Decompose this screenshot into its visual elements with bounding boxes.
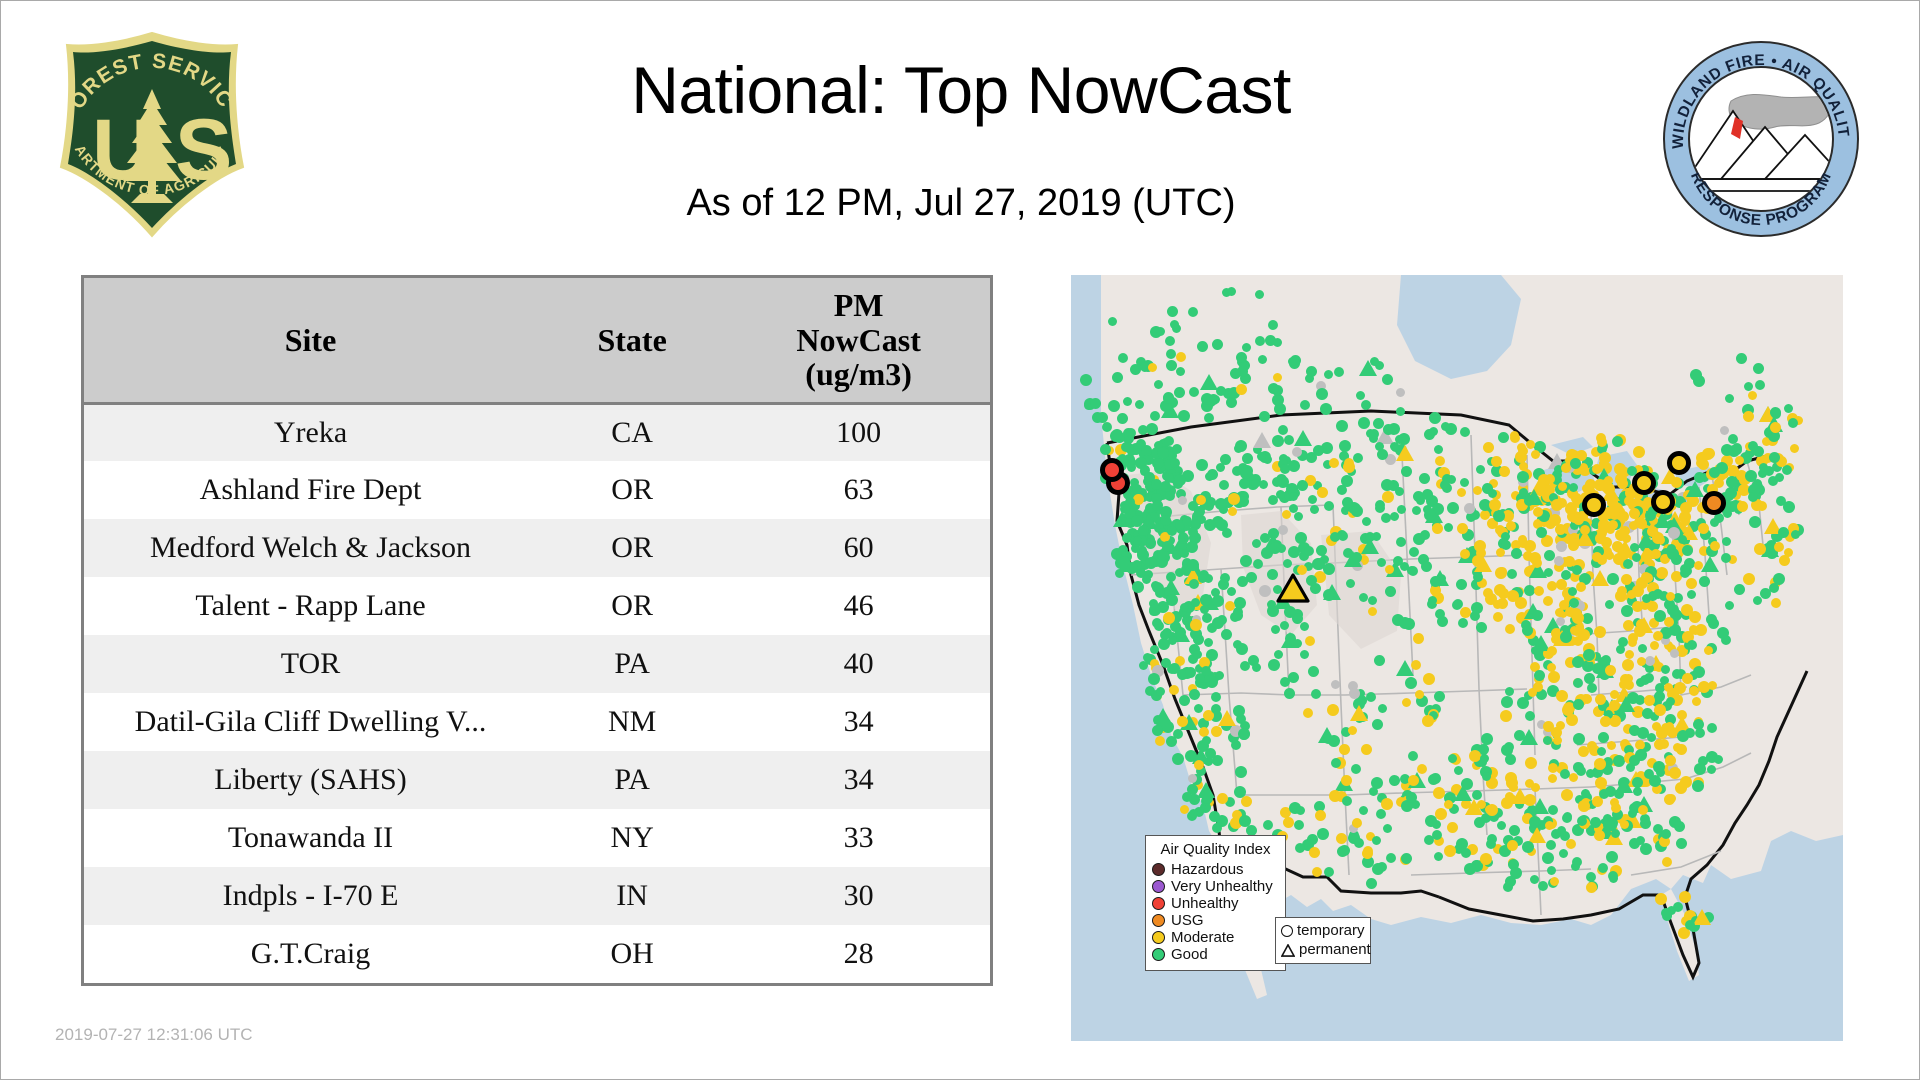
temporary-monitor-marker [1227, 287, 1236, 296]
slide-canvas: FOREST SERVICE DEPARTMENT OF AGRICULTURE… [0, 0, 1920, 1080]
temporary-monitor-marker [1491, 456, 1502, 467]
highlighted-site-marker[interactable] [1632, 471, 1656, 495]
temporary-monitor-marker [1341, 475, 1353, 487]
permanent-monitor-marker [1350, 705, 1368, 721]
temporary-monitor-marker [1189, 689, 1200, 700]
temporary-monitor-marker [1594, 758, 1606, 770]
temporary-monitor-marker [1471, 602, 1483, 614]
temporary-monitor-marker [1637, 657, 1646, 666]
temporary-monitor-marker [1543, 596, 1553, 606]
air-quality-map[interactable]: Air Quality Index HazardousVery Unhealth… [1071, 275, 1843, 1041]
temporary-monitor-marker [1331, 758, 1341, 768]
temporary-monitor-marker [1411, 660, 1421, 670]
table-row: G.T.CraigOH28 [84, 925, 990, 983]
table-row: Medford Welch & JacksonOR60 [84, 519, 990, 577]
temporary-monitor-marker [1295, 843, 1305, 853]
aqi-swatch-icon [1152, 880, 1165, 893]
temporary-monitor-marker [1623, 559, 1633, 569]
cell-value: 28 [727, 925, 990, 983]
temporary-monitor-marker [1569, 483, 1578, 492]
temporary-monitor-marker [1162, 541, 1173, 552]
temporary-monitor-marker [1198, 574, 1207, 583]
temporary-monitor-marker [1598, 732, 1609, 743]
temporary-monitor-marker [1143, 653, 1152, 662]
temporary-monitor-marker [1170, 320, 1179, 329]
temporary-monitor-marker [1638, 644, 1647, 653]
temporary-monitor-marker [1259, 585, 1271, 597]
temporary-monitor-marker [1236, 352, 1247, 363]
temporary-monitor-marker [1377, 449, 1388, 460]
aqi-legend-title: Air Quality Index [1152, 841, 1279, 858]
permanent-monitor-marker [1701, 556, 1719, 572]
aqi-legend-item: Hazardous [1152, 861, 1279, 878]
permanent-monitor-marker [1294, 430, 1312, 446]
temporary-monitor-marker [1204, 413, 1214, 423]
temporary-monitor-marker [1166, 349, 1176, 359]
temporary-monitor-marker [1578, 629, 1590, 641]
temporary-monitor-marker [1497, 821, 1506, 830]
temporary-monitor-marker [1156, 327, 1165, 336]
aqi-swatch-icon [1152, 948, 1165, 961]
permanent-monitor-marker [1615, 777, 1633, 793]
temporary-monitor-marker [1381, 798, 1393, 810]
temporary-monitor-marker [1447, 822, 1458, 833]
temporary-monitor-marker [1472, 555, 1484, 567]
cell-site: Ashland Fire Dept [84, 461, 537, 519]
temporary-monitor-marker [1561, 789, 1573, 801]
pm-line-1: PM [834, 287, 884, 323]
temporary-monitor-marker [1614, 543, 1624, 553]
cell-state: OH [537, 925, 727, 983]
temporary-monitor-marker [1297, 480, 1308, 491]
permanent-monitor-marker [1524, 603, 1542, 619]
temporary-monitor-marker [1202, 736, 1211, 745]
temporary-monitor-marker [1748, 492, 1758, 502]
permanent-monitor-marker [1281, 632, 1299, 648]
temporary-monitor-marker [1548, 774, 1557, 783]
permanent-monitor-marker [1520, 729, 1538, 745]
temporary-monitor-marker [1289, 492, 1298, 501]
temporary-monitor-marker [1193, 635, 1202, 644]
temporary-monitor-marker [1216, 463, 1225, 472]
temporary-monitor-marker [1237, 576, 1248, 587]
temporary-monitor-marker [1547, 646, 1557, 656]
temporary-monitor-marker [1714, 755, 1723, 764]
temporary-monitor-marker [1376, 809, 1386, 819]
temporary-monitor-marker [1255, 336, 1265, 346]
temporary-monitor-marker [1234, 444, 1243, 453]
temporary-monitor-marker [1167, 306, 1178, 317]
cell-state: OR [537, 577, 727, 635]
temporary-monitor-marker [1255, 290, 1264, 299]
page-subtitle: As of 12 PM, Jul 27, 2019 (UTC) [301, 184, 1621, 222]
cell-site: Datil-Gila Cliff Dwelling V... [84, 693, 537, 751]
aqi-legend-item: Good [1152, 946, 1279, 963]
wfaqrp-logo: WILDLAND FIRE • AIR QUALITY RESPONSE PRO… [1661, 39, 1861, 239]
aqi-legend-item: Unhealthy [1152, 895, 1279, 912]
temporary-monitor-marker [1124, 443, 1134, 453]
temporary-monitor-marker [1548, 763, 1558, 773]
table-row: Ashland Fire DeptOR63 [84, 461, 990, 519]
temporary-monitor-marker [1578, 800, 1590, 812]
temporary-monitor-marker [1710, 541, 1720, 551]
cell-site: Yreka [84, 403, 537, 461]
cell-site: G.T.Craig [84, 925, 537, 983]
permanent-monitor-marker [1218, 710, 1236, 726]
temporary-monitor-marker [1435, 456, 1445, 466]
cell-state: IN [537, 867, 727, 925]
highlighted-site-marker[interactable] [1702, 491, 1726, 515]
temporary-monitor-marker [1316, 388, 1328, 400]
temporary-monitor-marker [1382, 374, 1393, 385]
temporary-monitor-marker [1653, 589, 1663, 599]
temporary-monitor-marker [1607, 741, 1616, 750]
temporary-monitor-marker [1339, 845, 1350, 856]
table-header-row: Site State PM NowCast (ug/m3) [84, 278, 990, 403]
temporary-monitor-marker [1692, 780, 1704, 792]
cell-state: CA [537, 403, 727, 461]
top-nowcast-table-container: Site State PM NowCast (ug/m3) YrekaCA100… [81, 275, 993, 986]
aqi-legend-label: Good [1171, 947, 1208, 962]
temporary-monitor-marker [1142, 575, 1151, 584]
temporary-monitor-marker [1656, 768, 1665, 777]
temporary-monitor-marker [1507, 840, 1518, 851]
temporary-monitor-marker [1480, 853, 1492, 865]
temporary-monitor-marker [1401, 853, 1412, 864]
permanent-monitor-marker [1200, 374, 1218, 390]
temporary-monitor-marker [1677, 710, 1687, 720]
cell-site: Talent - Rapp Lane [84, 577, 537, 635]
temporary-monitor-marker [1280, 677, 1290, 687]
permanent-monitor-marker [1591, 570, 1609, 586]
permanent-monitor-marker [1161, 402, 1179, 418]
temporary-monitor-marker [1393, 556, 1403, 566]
temporary-monitor-marker [1180, 603, 1189, 612]
temporary-monitor-marker [1415, 690, 1424, 699]
temporary-monitor-marker [1654, 704, 1666, 716]
temporary-monitor-marker [1268, 383, 1279, 394]
temporary-monitor-marker [1271, 625, 1280, 634]
highlighted-site-marker[interactable] [1100, 458, 1124, 482]
temporary-monitor-marker [1576, 766, 1586, 776]
pm-line-3: (ug/m3) [805, 356, 912, 392]
temporary-monitor-marker [1102, 422, 1112, 432]
footer-timestamp: 2019-07-27 12:31:06 UTC [55, 1025, 253, 1045]
aqi-swatch-icon [1152, 897, 1165, 910]
temporary-monitor-marker [1616, 645, 1625, 654]
temporary-monitor-marker [1653, 824, 1663, 834]
temporary-monitor-marker [1329, 790, 1341, 802]
temporary-monitor-marker [1594, 626, 1606, 638]
temporary-monitor-marker [1348, 726, 1357, 735]
temporary-monitor-marker [1434, 691, 1445, 702]
temporary-monitor-marker [1464, 863, 1476, 875]
permanent-monitor-marker [1118, 556, 1136, 572]
temporary-monitor-marker [1212, 617, 1224, 629]
table-row: Datil-Gila Cliff Dwelling V...NM34 [84, 693, 990, 751]
temporary-monitor-marker [1336, 833, 1347, 844]
aqi-legend-rows: HazardousVery UnhealthyUnhealthyUSGModer… [1152, 861, 1279, 963]
temporary-monitor-marker [1605, 786, 1616, 797]
temporary-monitor-marker [1556, 617, 1565, 626]
temporary-monitor-marker [1500, 710, 1512, 722]
temporary-monitor-marker [1188, 774, 1197, 783]
usfs-letter-s: S [175, 102, 232, 198]
temporary-monitor-marker [1272, 435, 1284, 447]
highlighted-site-marker[interactable] [1651, 490, 1675, 514]
temporary-monitor-marker [1294, 512, 1303, 521]
temporary-monitor-marker [1554, 556, 1564, 566]
temporary-monitor-marker [1257, 452, 1266, 461]
temporary-monitor-marker [1545, 821, 1554, 830]
temporary-monitor-marker [1620, 526, 1630, 536]
temporary-monitor-marker [1566, 839, 1576, 849]
temporary-monitor-marker [1525, 779, 1534, 788]
temporary-monitor-marker [1461, 848, 1471, 858]
temporary-monitor-marker [1180, 549, 1189, 558]
temporary-monitor-marker [1533, 507, 1543, 517]
cell-state: NY [537, 809, 727, 867]
temporary-monitor-marker [1200, 605, 1209, 614]
temporary-monitor-marker [1546, 840, 1556, 850]
temporary-monitor-marker [1212, 823, 1222, 833]
temporary-monitor-marker [1312, 558, 1324, 570]
temporary-monitor-marker [1613, 755, 1625, 767]
temporary-monitor-marker [1674, 821, 1685, 832]
temporary-monitor-marker [1629, 508, 1640, 519]
temporary-monitor-marker [1483, 442, 1494, 453]
temporary-monitor-marker [1560, 631, 1572, 643]
temporary-monitor-marker [1504, 742, 1514, 752]
temporary-monitor-marker [1725, 487, 1737, 499]
cell-value: 34 [727, 751, 990, 809]
temporary-monitor-marker [1209, 811, 1220, 822]
temporary-monitor-marker [1334, 367, 1344, 377]
temporary-monitor-marker [1638, 805, 1648, 815]
temporary-monitor-marker [1572, 656, 1584, 668]
temporary-monitor-marker [1586, 872, 1596, 882]
temporary-monitor-marker [1194, 704, 1203, 713]
permanent-monitor-marker [1576, 530, 1594, 546]
temporary-monitor-marker [1566, 714, 1578, 726]
permanent-monitor-marker [1396, 445, 1414, 461]
temporary-monitor-marker [1632, 585, 1644, 597]
table-row: Tonawanda IINY33 [84, 809, 990, 867]
temporary-monitor-marker [1390, 512, 1399, 521]
temporary-monitor-marker [1155, 736, 1165, 746]
temporary-monitor-marker [1372, 863, 1384, 875]
temporary-monitor-marker [1506, 521, 1516, 531]
temporary-monitor-marker [1138, 525, 1149, 536]
cell-value: 63 [727, 461, 990, 519]
temporary-monitor-marker [1386, 853, 1396, 863]
temporary-monitor-marker [1288, 460, 1300, 472]
temporary-monitor-marker [1239, 815, 1251, 827]
temporary-monitor-marker [1753, 596, 1762, 605]
temporary-monitor-marker [1551, 499, 1563, 511]
temporary-monitor-marker [1625, 650, 1634, 659]
temporary-monitor-marker [1424, 429, 1435, 440]
temporary-monitor-marker [1682, 545, 1693, 556]
temporary-monitor-marker [1517, 697, 1529, 709]
temporary-monitor-marker [1408, 775, 1419, 786]
temporary-monitor-marker [1200, 594, 1212, 606]
temporary-monitor-marker [1655, 893, 1667, 905]
temporary-monitor-marker [1251, 479, 1260, 488]
temporary-monitor-marker [1457, 523, 1468, 534]
temporary-monitor-marker [1473, 572, 1483, 582]
temporary-monitor-marker [1532, 558, 1542, 568]
temporary-monitor-marker [1339, 440, 1351, 452]
temporary-monitor-marker [1156, 687, 1165, 696]
temporary-monitor-marker [1306, 366, 1317, 377]
temporary-monitor-marker [1327, 704, 1339, 716]
temporary-monitor-marker [1667, 544, 1676, 553]
temporary-monitor-marker [1664, 794, 1675, 805]
temporary-monitor-marker [1401, 466, 1412, 477]
temporary-monitor-marker [1288, 357, 1297, 366]
highlighted-site-marker[interactable] [1276, 572, 1310, 609]
temporary-monitor-marker [1269, 542, 1281, 554]
temporary-monitor-marker [1654, 691, 1665, 702]
aqi-legend: Air Quality Index HazardousVery Unhealth… [1145, 835, 1286, 971]
temporary-monitor-marker [1331, 680, 1340, 689]
aqi-legend-label: USG [1171, 913, 1204, 928]
temporary-monitor-marker [1640, 675, 1650, 685]
highlighted-site-marker[interactable] [1667, 451, 1691, 475]
temporary-monitor-marker [1629, 521, 1638, 530]
temporary-monitor-marker [1308, 666, 1319, 677]
temporary-monitor-marker [1573, 699, 1584, 710]
temporary-monitor-marker [1191, 519, 1200, 528]
temporary-monitor-marker [1605, 600, 1614, 609]
table-body: YrekaCA100Ashland Fire DeptOR63Medford W… [84, 403, 990, 983]
temporary-monitor-marker [1507, 569, 1517, 579]
temporary-monitor-marker [1324, 370, 1333, 379]
symbol-legend: temporary permanent [1275, 917, 1371, 964]
temporary-monitor-marker [1778, 527, 1789, 538]
temporary-monitor-marker [1632, 553, 1641, 562]
temporary-monitor-marker [1577, 816, 1587, 826]
temporary-monitor-marker [1420, 530, 1430, 540]
temporary-monitor-marker [1236, 384, 1247, 395]
temporary-monitor-marker [1556, 579, 1567, 590]
temporary-monitor-marker [1678, 535, 1687, 544]
temporary-monitor-marker [1325, 591, 1334, 600]
temporary-monitor-marker [1138, 425, 1148, 435]
temporary-monitor-marker [1447, 502, 1459, 514]
temporary-monitor-marker [1207, 469, 1218, 480]
temporary-monitor-marker [1440, 480, 1450, 490]
temporary-monitor-marker [1667, 604, 1679, 616]
temporary-monitor-marker [1315, 810, 1326, 821]
temporary-monitor-marker [1529, 816, 1541, 828]
temporary-monitor-marker [1628, 633, 1638, 643]
temporary-monitor-marker [1645, 656, 1655, 666]
temporary-monitor-marker [1650, 641, 1659, 650]
temporary-monitor-marker [1372, 836, 1381, 845]
temporary-monitor-marker [1172, 753, 1184, 765]
temporary-monitor-marker [1568, 587, 1577, 596]
page-title: National: Top NowCast [301, 57, 1621, 123]
cell-value: 46 [727, 577, 990, 635]
highlighted-site-marker[interactable] [1582, 493, 1606, 517]
temporary-monitor-marker [1328, 735, 1340, 747]
temporary-monitor-marker [1317, 487, 1328, 498]
permanent-monitor-marker [1693, 909, 1711, 925]
temporary-monitor-marker [1676, 744, 1687, 755]
temporary-monitor-marker [1743, 411, 1754, 422]
temporary-monitor-marker [1259, 411, 1270, 422]
temporary-monitor-marker [1339, 744, 1350, 755]
temporary-monitor-marker [1187, 559, 1199, 571]
temporary-monitor-marker [1555, 524, 1566, 535]
temporary-monitor-marker [1238, 728, 1250, 740]
cell-site: TOR [84, 635, 537, 693]
symbol-legend-row-permanent: permanent [1281, 940, 1365, 959]
temporary-monitor-marker [1708, 681, 1717, 690]
column-header-state: State [537, 278, 727, 403]
temporary-monitor-marker [1707, 765, 1716, 774]
temporary-monitor-marker [1771, 598, 1781, 608]
temporary-monitor-marker [1324, 501, 1334, 511]
column-header-site-label: Site [285, 322, 337, 358]
table-row: Liberty (SAHS)PA34 [84, 751, 990, 809]
permanent-monitor-marker [1454, 785, 1472, 801]
temporary-monitor-marker [1194, 760, 1204, 770]
temporary-monitor-marker [1177, 716, 1188, 727]
symbol-legend-row-temporary: temporary [1281, 921, 1365, 940]
aqi-legend-label: Unhealthy [1171, 896, 1239, 911]
temporary-monitor-marker [1563, 812, 1572, 821]
temporary-monitor-marker [1179, 695, 1190, 706]
temporary-monitor-marker [1586, 882, 1597, 893]
temporary-monitor-marker [1543, 721, 1554, 732]
temporary-monitor-marker [1721, 553, 1731, 563]
temporary-monitor-marker [1525, 711, 1535, 721]
temporary-monitor-marker [1397, 505, 1406, 514]
temporary-monitor-marker [1133, 536, 1142, 545]
permanent-monitor-icon [1281, 944, 1295, 956]
temporary-monitor-marker [1587, 683, 1597, 693]
temporary-monitor-marker [1644, 695, 1655, 706]
cell-value: 40 [727, 635, 990, 693]
cell-value: 34 [727, 693, 990, 751]
temporary-monitor-marker [1499, 466, 1510, 477]
aqi-legend-label: Hazardous [1171, 862, 1244, 877]
temporary-monitor-marker [1211, 692, 1221, 702]
temporary-monitor-marker [1283, 559, 1292, 568]
temporary-monitor-marker [1562, 704, 1574, 716]
temporary-monitor-marker [1735, 456, 1744, 465]
top-nowcast-table: Site State PM NowCast (ug/m3) YrekaCA100… [84, 278, 990, 983]
temporary-monitor-marker [1506, 777, 1518, 789]
temporary-monitor-marker [1165, 491, 1175, 501]
temporary-monitor-marker [1673, 902, 1683, 912]
table-row: YrekaCA100 [84, 403, 990, 461]
temporary-monitor-marker [1201, 393, 1213, 405]
temporary-monitor-marker [1674, 682, 1686, 694]
temporary-monitor-marker [1597, 747, 1606, 756]
temporary-monitor-marker [1123, 397, 1132, 406]
temporary-monitor-marker [1788, 418, 1798, 428]
temporary-monitor-marker [1164, 473, 1174, 483]
temporary-monitor-marker [1460, 549, 1470, 559]
temporary-monitor-marker [1201, 666, 1211, 676]
temporary-monitor-marker [1598, 657, 1607, 666]
temporary-monitor-marker [1573, 514, 1584, 525]
permanent-monitor-marker [1344, 551, 1362, 567]
